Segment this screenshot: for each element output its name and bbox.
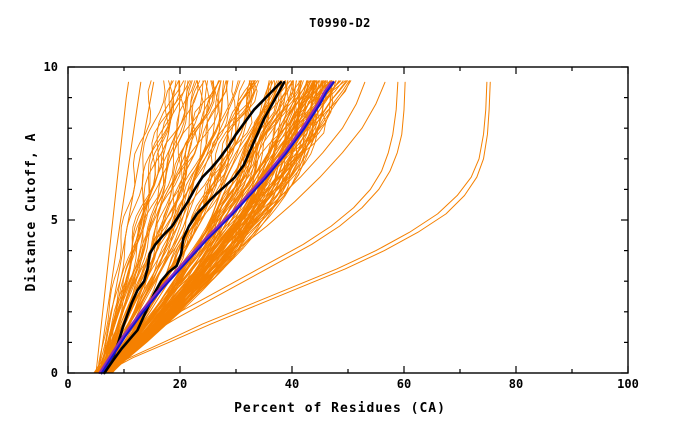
x-tick-label: 100 (617, 377, 639, 391)
x-tick-label: 80 (509, 377, 523, 391)
y-tick-label: 10 (34, 60, 58, 74)
chart-canvas: T0990-D2 Distance Cutoff, A Percent of R… (0, 0, 680, 440)
prediction-curve-band (94, 81, 490, 373)
x-tick-label: 0 (64, 377, 71, 391)
y-tick-label: 5 (34, 213, 58, 227)
x-tick-label: 40 (285, 377, 299, 391)
x-tick-label: 20 (173, 377, 187, 391)
plot-area (0, 0, 680, 440)
x-tick-label: 60 (397, 377, 411, 391)
y-tick-label: 0 (34, 366, 58, 380)
